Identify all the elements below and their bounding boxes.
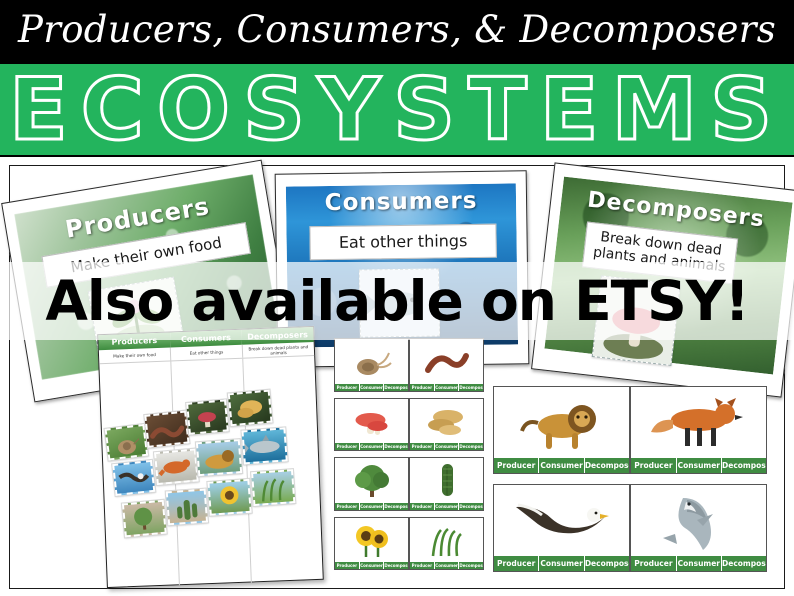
task-card-tree-chips: Producer Consumer Decomposer: [335, 503, 408, 510]
chip-decomposer[interactable]: Decomposer: [722, 458, 766, 473]
chip-producer[interactable]: Producer: [335, 384, 359, 391]
task-card-lion-chips: Producer Consumer Decomposer: [494, 458, 629, 473]
task-card-mushroom-chips: Producer Consumer Decomposer: [335, 443, 408, 450]
bracket-fungus-icon: [422, 404, 472, 438]
chip-decomposer[interactable]: Decomposer: [459, 443, 483, 450]
task-card-worm-chips: Producer Consumer Decomposer: [410, 384, 483, 391]
mat-picture-card-bracket-fungus[interactable]: [228, 390, 273, 427]
chip-producer[interactable]: Producer: [410, 443, 434, 450]
task-card-tree[interactable]: Producer Consumer Decomposer: [334, 457, 409, 511]
chip-producer[interactable]: Producer: [631, 556, 675, 571]
worm-icon: [422, 346, 472, 376]
mat-picture-card-tree[interactable]: [122, 500, 167, 538]
chip-consumer[interactable]: Consumer: [539, 556, 583, 571]
cactus-icon: [432, 461, 462, 499]
task-card-cactus-chips: Producer Consumer Decomposer: [410, 503, 483, 510]
task-card-shark[interactable]: Producer Consumer Decomposer: [630, 484, 767, 572]
chip-decomposer[interactable]: Decomposer: [459, 503, 483, 510]
chip-producer[interactable]: Producer: [494, 556, 538, 571]
poster-consumers-title: Consumers: [276, 187, 526, 216]
mat-picture-card-shark[interactable]: [241, 427, 287, 464]
chip-decomposer[interactable]: Decomposer: [459, 562, 483, 569]
task-card-bracket-fungus[interactable]: Producer Consumer Decomposer: [409, 398, 484, 452]
task-card-bracket-fungus-chips: Producer Consumer Decomposer: [410, 443, 483, 450]
chip-decomposer[interactable]: Decomposer: [459, 384, 483, 391]
chip-producer[interactable]: Producer: [494, 458, 538, 473]
mat-picture-card-grass[interactable]: [251, 469, 295, 506]
shark-icon: [653, 490, 745, 552]
mat-picture-card-fox[interactable]: [154, 448, 199, 485]
mat-picture-card-snail[interactable]: [105, 424, 149, 461]
task-card-snail-chips: Producer Consumer Decomposer: [335, 384, 408, 391]
mat-picture-card-sunflower[interactable]: [207, 479, 251, 516]
chip-consumer[interactable]: Consumer: [435, 562, 459, 569]
task-card-sunflower-image: [335, 518, 408, 563]
task-card-sunflower[interactable]: Producer Consumer Decomposer: [334, 517, 409, 571]
task-card-mushroom-image: [335, 399, 408, 444]
chip-consumer[interactable]: Consumer: [360, 384, 384, 391]
lion-icon: [514, 393, 610, 453]
task-card-grid-small: Producer Consumer Decomposer Producer Co…: [334, 338, 482, 570]
chip-consumer[interactable]: Consumer: [435, 503, 459, 510]
task-card-grass[interactable]: Producer Consumer Decomposer: [409, 517, 484, 571]
chip-decomposer[interactable]: Decomposer: [384, 443, 408, 450]
header-ecosystems-title: ECOSYSTEMS: [0, 62, 794, 157]
task-card-eagle-chips: Producer Consumer Decomposer: [494, 556, 629, 571]
chip-consumer[interactable]: Consumer: [360, 443, 384, 450]
task-card-grid-large: Producer Consumer Decomposer Pr: [493, 386, 741, 572]
chip-producer[interactable]: Producer: [410, 562, 434, 569]
mat-picture-card-worm[interactable]: [144, 410, 189, 447]
sorting-mat: Producers Consumers Decomposers Make the…: [97, 326, 324, 588]
chip-consumer[interactable]: Consumer: [435, 443, 459, 450]
mat-picture-card-mushroom[interactable]: [186, 399, 229, 434]
chip-producer[interactable]: Producer: [335, 562, 359, 569]
mushroom-icon: [348, 404, 396, 438]
task-card-eagle[interactable]: Producer Consumer Decomposer: [493, 484, 630, 572]
mat-picture-card-cactus[interactable]: [166, 489, 208, 526]
etsy-overlay-text: Also available on ETSY!: [45, 269, 748, 333]
grass-icon: [423, 522, 471, 558]
task-card-fox-image: [631, 387, 766, 458]
task-card-snail-image: [335, 339, 408, 384]
chip-decomposer[interactable]: Decomposer: [384, 384, 408, 391]
mat-sub-decomposers: Break down dead plants and animals: [243, 342, 314, 358]
task-card-lion[interactable]: Producer Consumer Decomposer: [493, 386, 630, 474]
task-card-grass-image: [410, 518, 483, 563]
task-card-sunflower-chips: Producer Consumer Decomposer: [335, 562, 408, 569]
task-card-worm[interactable]: Producer Consumer Decomposer: [409, 338, 484, 392]
chip-producer[interactable]: Producer: [410, 503, 434, 510]
mat-picture-card-eagle[interactable]: [112, 460, 155, 496]
chip-producer[interactable]: Producer: [410, 384, 434, 391]
chip-producer[interactable]: Producer: [335, 443, 359, 450]
task-card-shark-image: [631, 485, 766, 556]
task-card-mushroom[interactable]: Producer Consumer Decomposer: [334, 398, 409, 452]
task-card-cactus-image: [410, 458, 483, 503]
product-preview-image: Producers, Consumers, & Decomposers ECOS…: [0, 0, 794, 596]
chip-decomposer[interactable]: Decomposer: [384, 503, 408, 510]
task-card-fox[interactable]: Producer Consumer Decomposer: [630, 386, 767, 474]
etsy-overlay-banner: Also available on ETSY!: [0, 262, 794, 340]
task-card-snail[interactable]: Producer Consumer Decomposer: [334, 338, 409, 392]
snail-icon: [348, 346, 396, 376]
task-card-worm-image: [410, 339, 483, 384]
task-card-eagle-image: [494, 485, 629, 556]
task-card-bracket-fungus-image: [410, 399, 483, 444]
chip-decomposer[interactable]: Decomposer: [722, 556, 766, 571]
fox-icon: [649, 394, 749, 452]
chip-consumer[interactable]: Consumer: [677, 556, 721, 571]
task-card-fox-chips: Producer Consumer Decomposer: [631, 458, 766, 473]
chip-decomposer[interactable]: Decomposer: [384, 562, 408, 569]
task-card-shark-chips: Producer Consumer Decomposer: [631, 556, 766, 571]
poster-consumers-subtitle: Eat other things: [309, 224, 496, 261]
chip-decomposer[interactable]: Decomposer: [585, 458, 629, 473]
chip-producer[interactable]: Producer: [335, 503, 359, 510]
sunflower-icon: [348, 521, 396, 559]
task-card-lion-image: [494, 387, 629, 458]
chip-producer[interactable]: Producer: [631, 458, 675, 473]
chip-consumer[interactable]: Consumer: [539, 458, 583, 473]
chip-consumer[interactable]: Consumer: [360, 503, 384, 510]
chip-consumer[interactable]: Consumer: [360, 562, 384, 569]
mat-picture-card-lion[interactable]: [196, 439, 242, 476]
chip-decomposer[interactable]: Decomposer: [585, 556, 629, 571]
eagle-icon: [510, 493, 614, 549]
task-card-tree-image: [335, 458, 408, 503]
task-card-cactus[interactable]: Producer Consumer Decomposer: [409, 457, 484, 511]
header-script-title: Producers, Consumers, & Decomposers: [0, 0, 794, 60]
chip-consumer[interactable]: Consumer: [435, 384, 459, 391]
task-card-grass-chips: Producer Consumer Decomposer: [410, 562, 483, 569]
tree-icon: [349, 461, 395, 499]
chip-consumer[interactable]: Consumer: [677, 458, 721, 473]
